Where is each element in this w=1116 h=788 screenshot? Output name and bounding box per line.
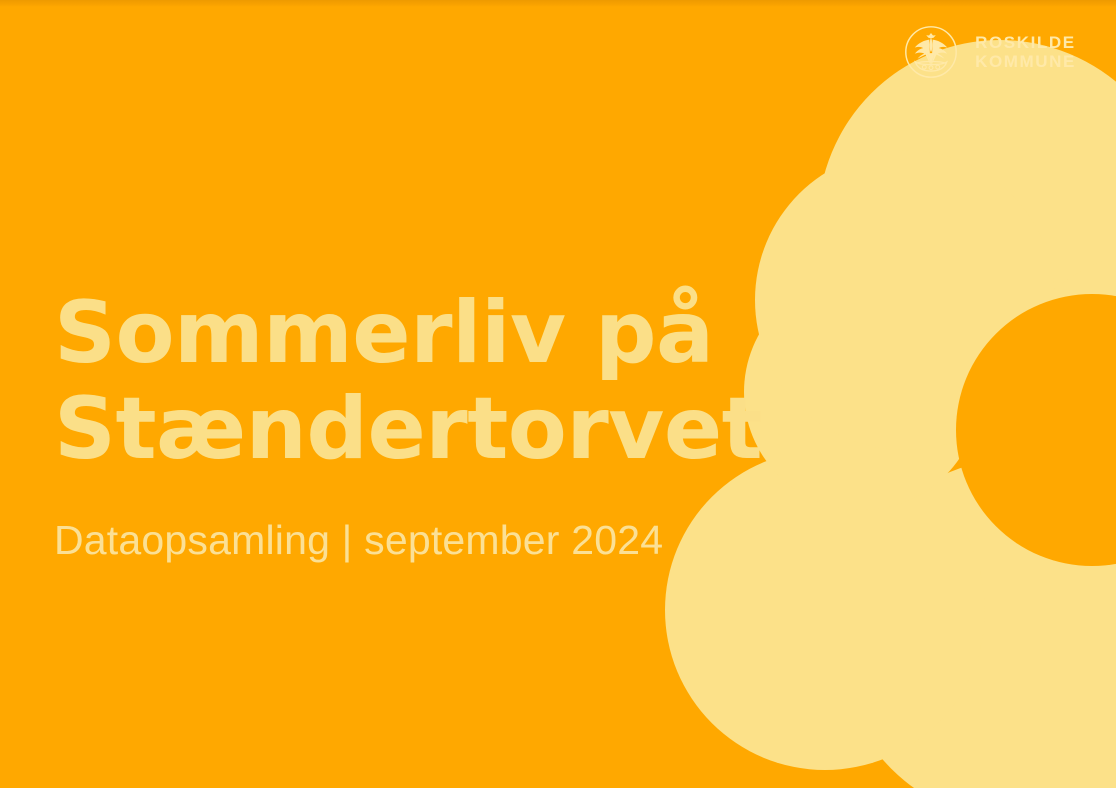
roskilde-kommune-logo: ROSKILDE KOMMUNE (903, 24, 1076, 80)
flower-center (956, 294, 1116, 566)
title-slide: ROSKILDE KOMMUNE Sommerliv på Stændertor… (0, 0, 1116, 788)
slide-content: Sommerliv på Stændertorvet Dataopsamling… (54, 285, 774, 563)
top-edge-band (0, 0, 1116, 7)
eagle-crest-icon (903, 24, 959, 80)
logo-line-1: ROSKILDE (975, 33, 1076, 52)
page-title: Sommerliv på Stændertorvet (54, 285, 774, 478)
logo-wordmark: ROSKILDE KOMMUNE (975, 33, 1076, 71)
page-subtitle: Dataopsamling | september 2024 (54, 518, 774, 563)
logo-line-2: KOMMUNE (975, 52, 1076, 71)
title-line-2: Stændertorvet (54, 381, 774, 477)
title-line-1: Sommerliv på (54, 285, 774, 381)
